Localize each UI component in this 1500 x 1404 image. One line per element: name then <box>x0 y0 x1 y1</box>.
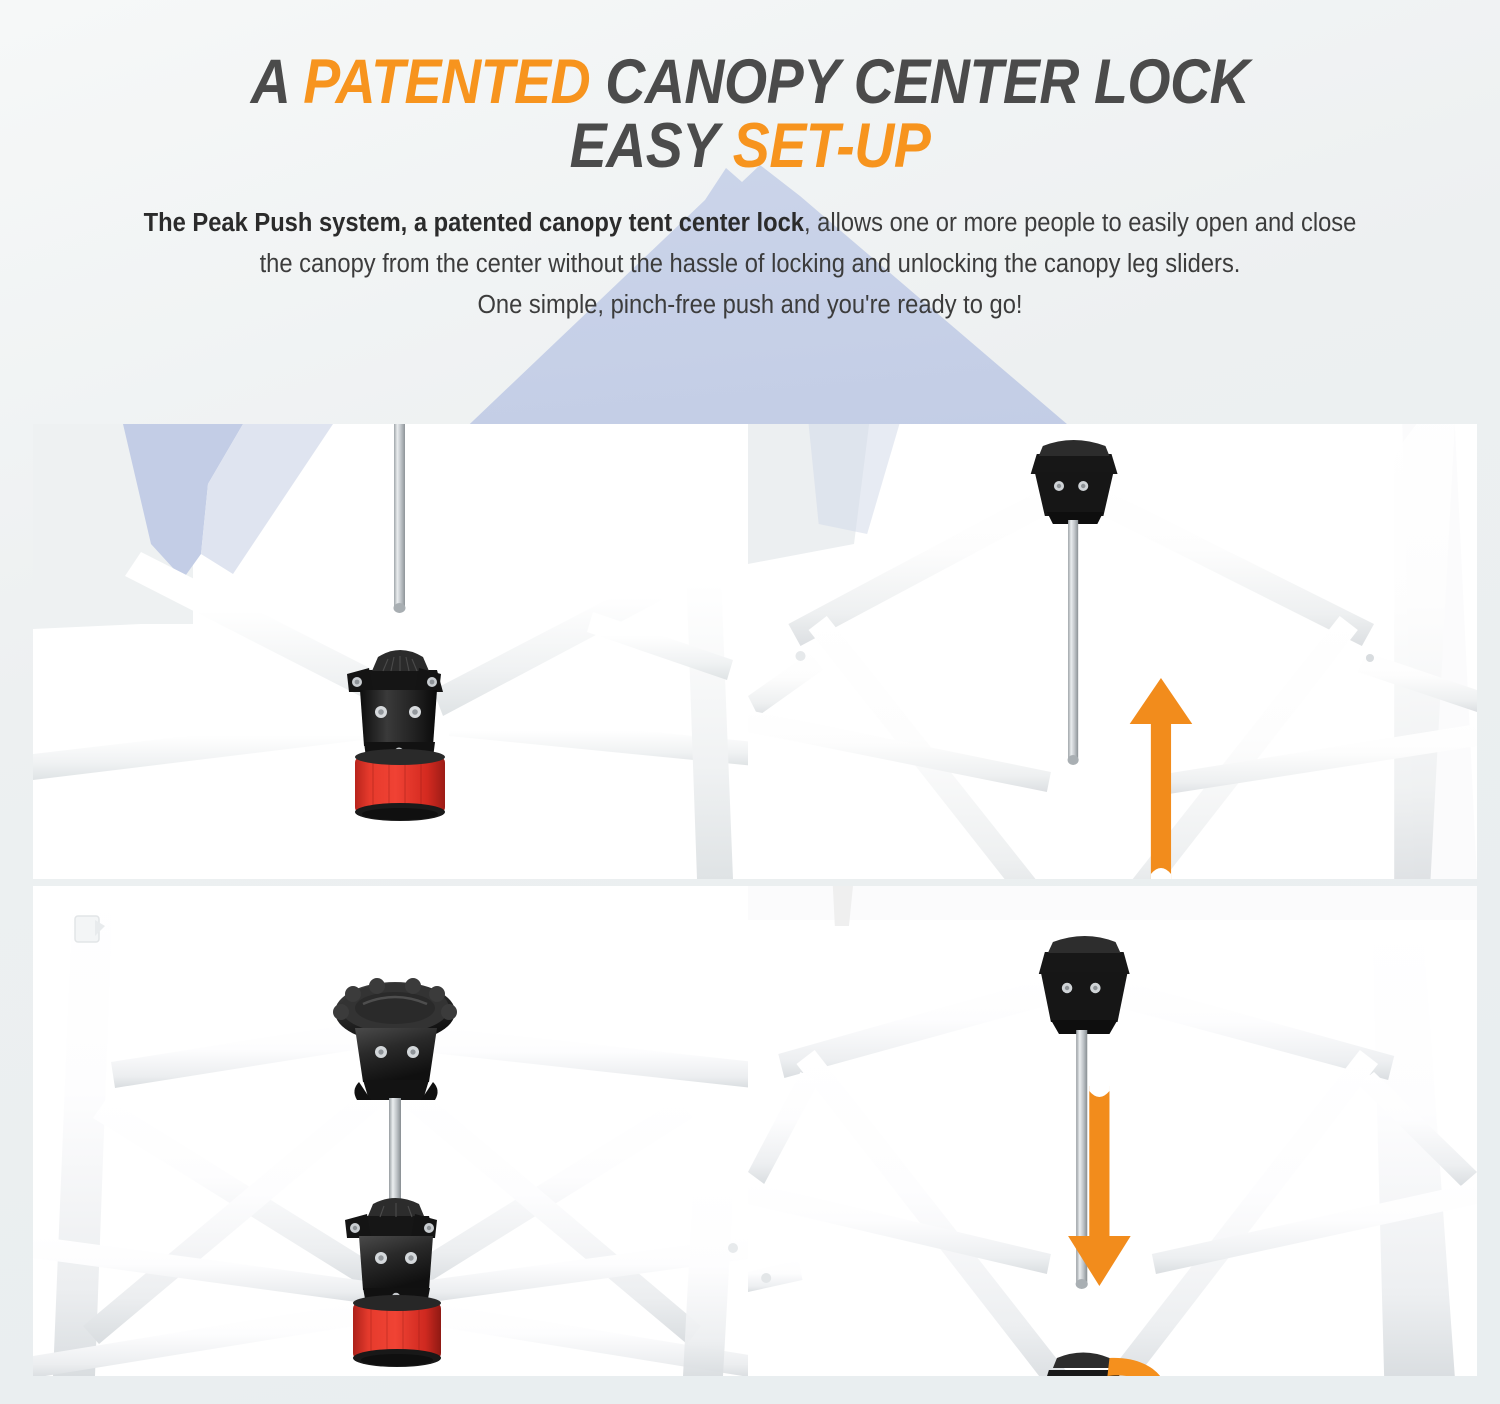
title-word-patented: PATENTED <box>303 47 590 117</box>
description-last-line: One simple, pinch-free push and you're r… <box>477 291 1022 319</box>
panel-top-right <box>748 424 1477 879</box>
panel-bottom-right <box>748 886 1477 1376</box>
page-title: A PATENTED CANOPY CENTER LOCK EASY SET-U… <box>0 0 1500 179</box>
panel-bottom-left <box>33 886 755 1376</box>
description-bold-lead: The Peak Push system, a patented canopy … <box>144 209 804 237</box>
title-words-canopy-center-lock: CANOPY CENTER LOCK <box>590 47 1249 117</box>
title-word-setup: SET-UP <box>733 111 931 181</box>
title-line-1: A PATENTED CANOPY CENTER LOCK <box>90 50 1410 114</box>
description-paragraph: The Peak Push system, a patented canopy … <box>53 203 1448 327</box>
title-word-easy: EASY <box>570 111 733 181</box>
feature-photo-grid <box>33 424 1470 1376</box>
header: A PATENTED CANOPY CENTER LOCK EASY SET-U… <box>0 0 1500 326</box>
panel-top-left <box>33 424 755 879</box>
center-lock-push-up-photo <box>748 424 1477 879</box>
center-lock-closed-photo <box>33 424 755 879</box>
center-lock-release-photo <box>748 886 1477 1376</box>
title-word-a: A <box>251 47 304 117</box>
title-line-2: EASY SET-UP <box>90 114 1410 178</box>
center-lock-extended-photo <box>33 886 755 1376</box>
